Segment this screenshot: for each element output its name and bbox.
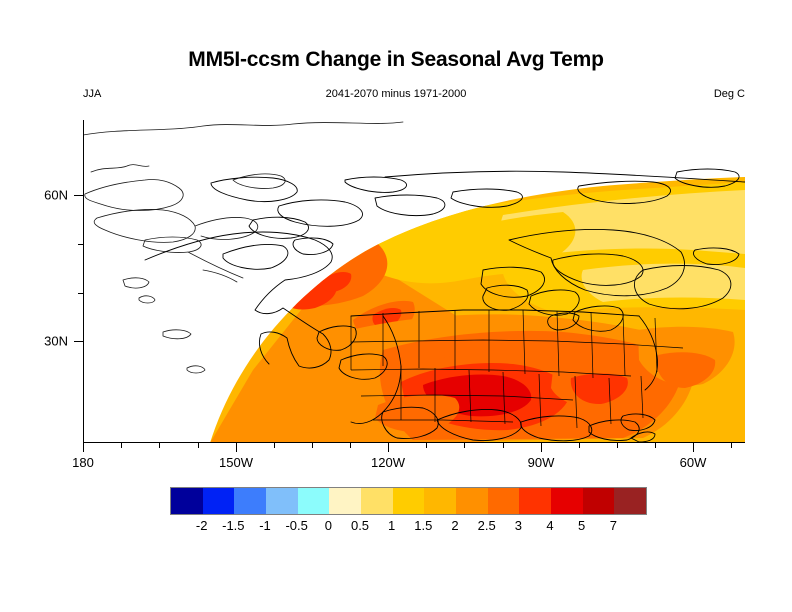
x-axis-tick-label: 180 bbox=[72, 455, 94, 470]
colorbar-tick-label: -1 bbox=[259, 518, 271, 533]
colorbar-segment bbox=[424, 488, 456, 514]
colorbar-segment bbox=[234, 488, 266, 514]
x-tick-minor bbox=[426, 443, 427, 448]
colorbar-tick-label: 2 bbox=[451, 518, 458, 533]
x-tick-minor bbox=[350, 443, 351, 448]
colorbar-tick-label: -1.5 bbox=[222, 518, 244, 533]
x-tick-minor bbox=[731, 443, 732, 448]
colorbar-tick-label: 2.5 bbox=[478, 518, 496, 533]
colorbar-tick-label: 3 bbox=[515, 518, 522, 533]
x-axis-tick-label: 120W bbox=[371, 455, 405, 470]
colorbar-tick-label: 5 bbox=[578, 518, 585, 533]
colorbar-segment bbox=[393, 488, 425, 514]
x-axis-tick-label: 90W bbox=[528, 455, 555, 470]
y-tick-minor bbox=[78, 244, 83, 245]
colorbar-tick-label: 1 bbox=[388, 518, 395, 533]
colorbar-segment bbox=[266, 488, 298, 514]
colorbar-tick-label: 0 bbox=[325, 518, 332, 533]
x-tick-major bbox=[388, 443, 389, 452]
colorbar bbox=[170, 487, 647, 515]
colorbar-segment bbox=[551, 488, 583, 514]
figure-canvas: MM5I-ccsm Change in Seasonal Avg Temp JJ… bbox=[0, 0, 792, 612]
colorbar-segment bbox=[614, 488, 646, 514]
colorbar-segment bbox=[519, 488, 551, 514]
y-tick-major bbox=[74, 195, 83, 196]
y-tick-major bbox=[74, 341, 83, 342]
colorbar-segment bbox=[488, 488, 520, 514]
colorbar-segment bbox=[171, 488, 203, 514]
plot-frame bbox=[83, 120, 745, 443]
x-tick-major bbox=[693, 443, 694, 452]
colorbar-segment bbox=[329, 488, 361, 514]
colorbar-tick-label: 4 bbox=[546, 518, 553, 533]
colorbar-segment bbox=[298, 488, 330, 514]
colorbar-segment bbox=[361, 488, 393, 514]
colorbar-tick-label: -2 bbox=[196, 518, 208, 533]
y-tick-minor bbox=[78, 293, 83, 294]
colorbar-segment bbox=[583, 488, 615, 514]
x-tick-major bbox=[83, 443, 84, 452]
x-tick-minor bbox=[503, 443, 504, 448]
y-axis-tick-label: 30N bbox=[18, 334, 68, 349]
colorbar-segment bbox=[203, 488, 235, 514]
x-tick-minor bbox=[655, 443, 656, 448]
x-tick-minor bbox=[617, 443, 618, 448]
x-tick-minor bbox=[312, 443, 313, 448]
x-tick-minor bbox=[159, 443, 160, 448]
x-tick-minor bbox=[464, 443, 465, 448]
colorbar-tick-label: 1.5 bbox=[414, 518, 432, 533]
colorbar-tick-label: -0.5 bbox=[285, 518, 307, 533]
x-tick-minor bbox=[121, 443, 122, 448]
x-tick-minor bbox=[579, 443, 580, 448]
colorbar-tick-label: 7 bbox=[610, 518, 617, 533]
y-axis-tick-label: 60N bbox=[18, 188, 68, 203]
units-label: Deg C bbox=[0, 88, 745, 100]
x-axis-tick-label: 60W bbox=[680, 455, 707, 470]
x-tick-minor bbox=[274, 443, 275, 448]
colorbar-segment bbox=[456, 488, 488, 514]
colorbar-tick-label: 0.5 bbox=[351, 518, 369, 533]
x-tick-major bbox=[236, 443, 237, 452]
x-tick-major bbox=[541, 443, 542, 452]
x-axis-tick-label: 150W bbox=[219, 455, 253, 470]
page-title: MM5I-ccsm Change in Seasonal Avg Temp bbox=[0, 48, 792, 72]
x-tick-minor bbox=[198, 443, 199, 448]
